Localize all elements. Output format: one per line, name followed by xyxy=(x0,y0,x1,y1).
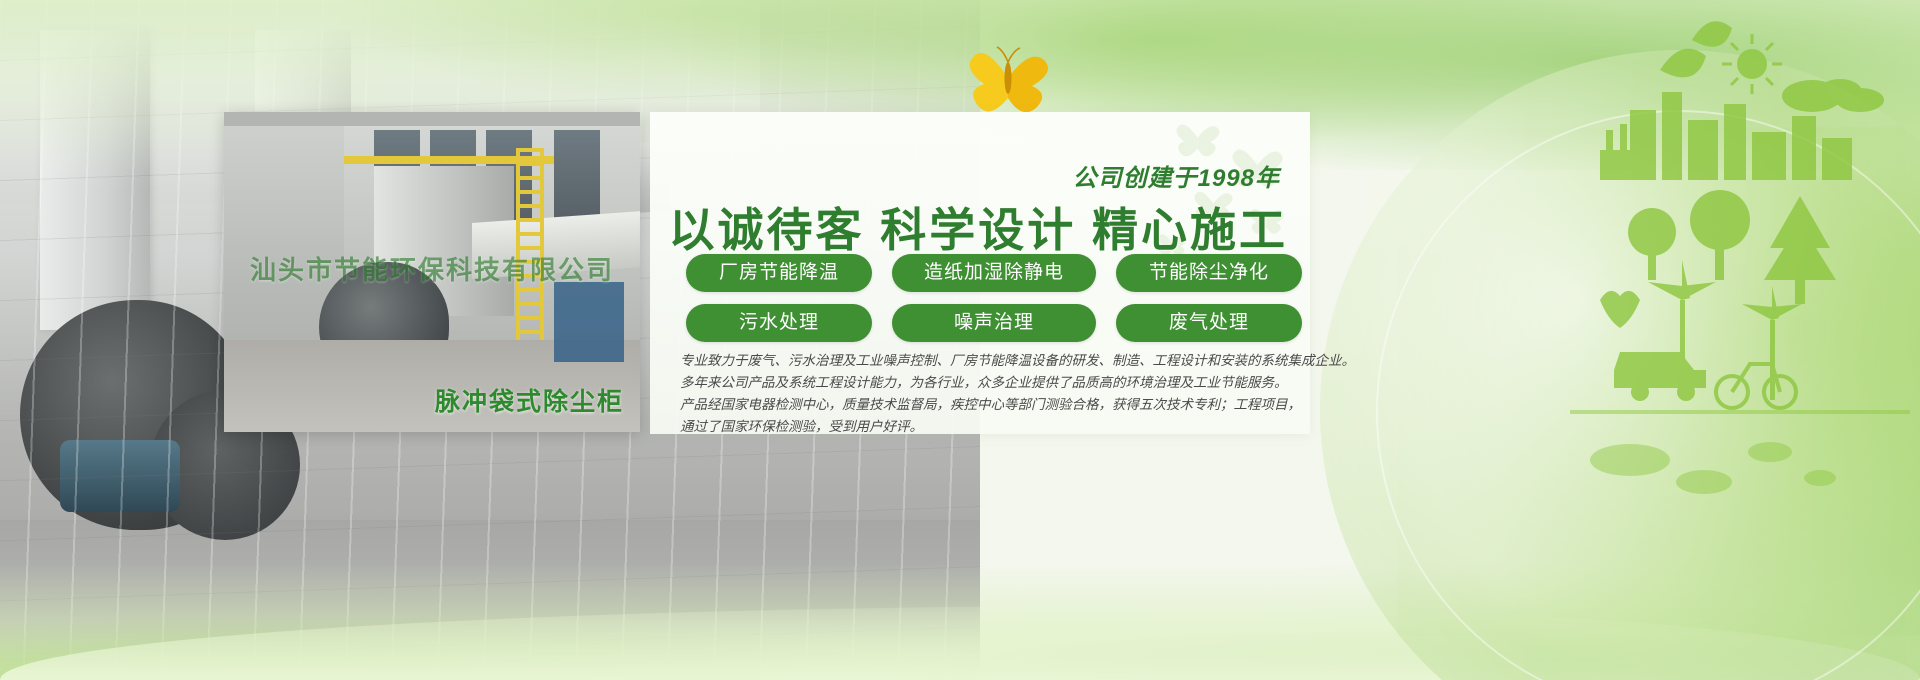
building-icon xyxy=(1792,116,1816,180)
factory-photo-card: 汕头市节能环保科技有限公司 脉冲袋式除尘柜 xyxy=(224,112,640,432)
eco-city-illustration xyxy=(1300,0,1920,560)
tree-icon xyxy=(1628,208,1676,280)
description-line: 多年来公司产品及系统工程设计能力，为各行业，众多企业提供了品质高的环境治理及工业… xyxy=(680,372,1300,394)
description-line: 产品经国家电器检测中心，质量技术监督局，疾控中心等部门测验合格，获得五次技术专利… xyxy=(680,394,1300,416)
photo-caption: 脉冲袋式除尘柜 xyxy=(435,382,624,418)
tree-icon xyxy=(1764,196,1836,304)
service-tag-sewage-treatment[interactable]: 污水处理 xyxy=(686,304,872,342)
service-tag-noise-control[interactable]: 噪声治理 xyxy=(892,304,1096,342)
service-tag-group: 厂房节能降温 造纸加湿除静电 节能除尘净化 污水处理 噪声治理 废气处理 xyxy=(686,254,1286,354)
content-panel: 公司创建于1998年 以诚待客 科学设计 精心施工 厂房节能降温 造纸加湿除静电… xyxy=(650,112,1310,434)
sun-icon xyxy=(1737,49,1767,79)
bicycle-icon xyxy=(1716,364,1796,408)
building-icon xyxy=(1724,104,1746,180)
service-tag-factory-cooling[interactable]: 厂房节能降温 xyxy=(686,254,872,292)
company-description: 专业致力于废气、污水治理及工业噪声控制、厂房节能降温设备的研发、制造、工程设计和… xyxy=(680,350,1300,437)
description-line: 通过了国家环保检测验，受到用户好评。 xyxy=(680,416,1300,438)
service-tag-paper-humidify[interactable]: 造纸加湿除静电 xyxy=(892,254,1096,292)
leaf-icon xyxy=(1660,49,1706,78)
service-tag-waste-gas[interactable]: 废气处理 xyxy=(1116,304,1302,342)
car-icon xyxy=(1614,352,1706,401)
building-icon xyxy=(1752,132,1786,180)
service-tag-row-2: 污水处理 噪声治理 废气处理 xyxy=(686,304,1286,342)
butterfly-icon xyxy=(965,42,1051,114)
description-line: 专业致力于废气、污水治理及工业噪声控制、厂房节能降温设备的研发、制造、工程设计和… xyxy=(680,350,1300,372)
photo-door xyxy=(554,282,624,362)
leaf-icon xyxy=(1692,21,1732,47)
heart-leaf-icon xyxy=(1600,291,1640,328)
service-tag-row-1: 厂房节能降温 造纸加湿除静电 节能除尘净化 xyxy=(686,254,1286,292)
service-tag-dust-purification[interactable]: 节能除尘净化 xyxy=(1116,254,1302,292)
building-icon xyxy=(1688,120,1718,180)
factory-icon xyxy=(1600,150,1634,180)
photo-roof-beam xyxy=(224,112,640,126)
banner-stage: 汕头市节能环保科技有限公司 脉冲袋式除尘柜 xyxy=(0,0,1920,680)
tree-icon xyxy=(1690,190,1750,280)
photo-watermark: 汕头市节能环保科技有限公司 xyxy=(224,250,640,287)
building-icon xyxy=(1662,92,1682,180)
butterfly-icon xyxy=(1176,124,1219,156)
established-text: 公司创建于1998年 xyxy=(650,158,1310,193)
building-icon xyxy=(1822,138,1852,180)
map-speckles xyxy=(1590,442,1836,494)
ground-line xyxy=(1570,410,1910,414)
cloud-icon xyxy=(1782,79,1884,112)
page-title: 以诚待客 科学设计 精心施工 xyxy=(650,194,1310,260)
